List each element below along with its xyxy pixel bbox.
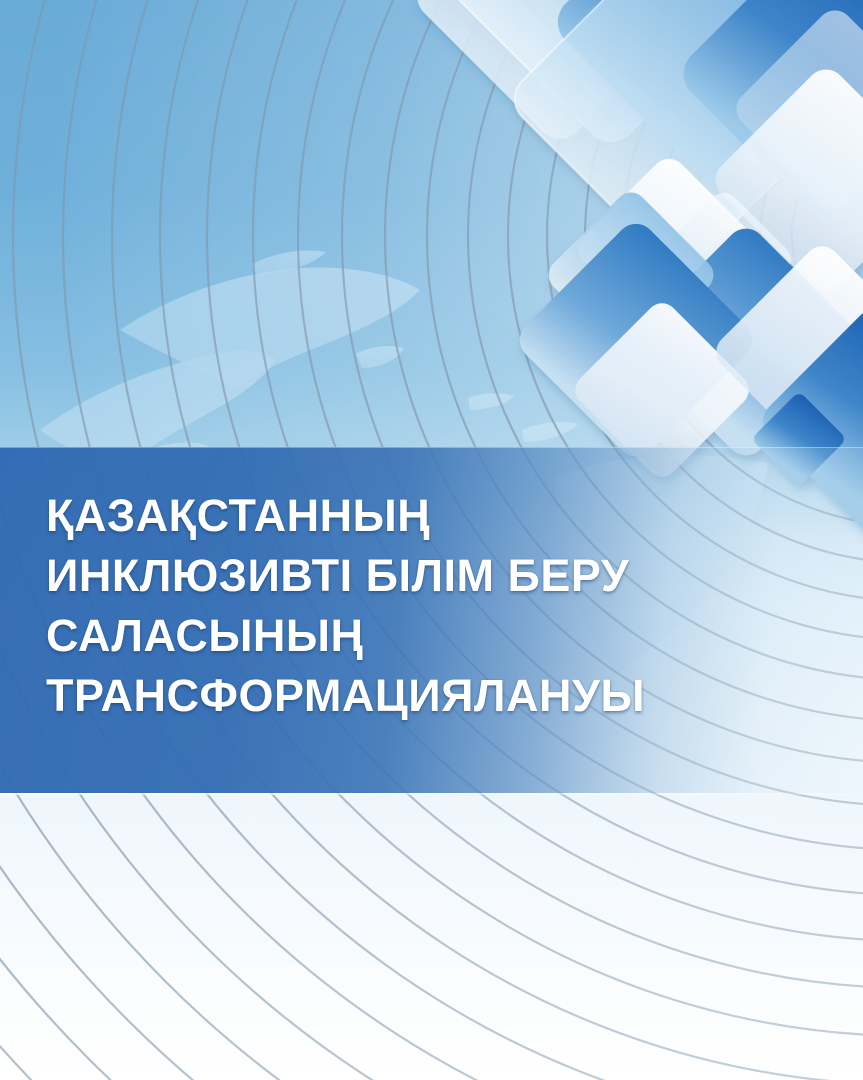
- title-line-1: ҚАЗАҚСТАННЫҢ: [46, 486, 836, 546]
- title-line-2: ИНКЛЮЗИВТІ БІЛІМ БЕРУ: [46, 546, 836, 606]
- title-line-3: САЛАСЫНЫҢ: [46, 606, 836, 666]
- poster-canvas: ҚАЗАҚСТАННЫҢ ИНКЛЮЗИВТІ БІЛІМ БЕРУ САЛАС…: [0, 0, 863, 1080]
- title-line-4: ТРАНСФОРМАЦИЯЛАНУЫ: [46, 666, 836, 726]
- page-title: ҚАЗАҚСТАННЫҢ ИНКЛЮЗИВТІ БІЛІМ БЕРУ САЛАС…: [46, 486, 836, 726]
